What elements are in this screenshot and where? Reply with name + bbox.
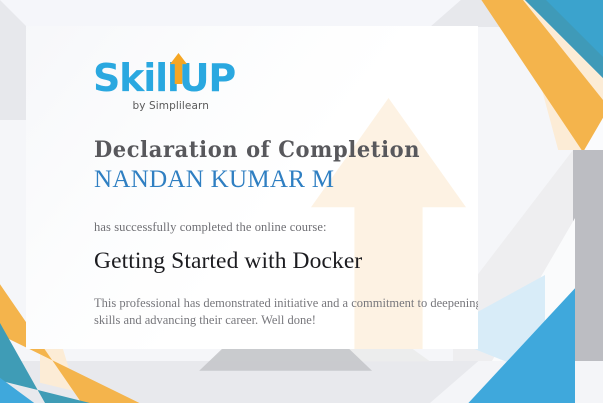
- certificate-card: SkillUP by Simplilearn Declaration of Co…: [26, 26, 478, 349]
- logo-text-up: UP: [179, 56, 235, 100]
- certificate-body: Declaration of Completion NANDAN KUMAR M…: [94, 136, 478, 329]
- signature-block: Krishna Kumar CEO: [466, 332, 478, 349]
- top-right-cream-ribbon: [463, 0, 603, 150]
- commendation-text: This professional has demonstrated initi…: [94, 295, 478, 329]
- logo-text-skill: Skill: [93, 56, 179, 100]
- top-edge-grey-wedge: [430, 0, 570, 27]
- completion-line: has successfully completed the online co…: [94, 220, 478, 235]
- right-grey-bar: [573, 150, 603, 403]
- handwritten-signature-icon: [466, 332, 478, 349]
- bottom-band-light-wedge: [430, 361, 603, 403]
- certificate-canvas: SkillUP by Simplilearn Declaration of Co…: [0, 0, 603, 403]
- course-title: Getting Started with Docker: [94, 248, 478, 275]
- recipient-name: NANDAN KUMAR M: [94, 166, 478, 194]
- logo-tagline: by Simplilearn: [93, 100, 209, 112]
- bottom-grey-band: [0, 361, 603, 403]
- page-title: Declaration of Completion: [94, 136, 478, 163]
- skillup-logo: SkillUP by Simplilearn: [93, 57, 263, 113]
- top-edge-strip: [0, 0, 603, 27]
- logo-wordmark: SkillUP: [93, 57, 263, 99]
